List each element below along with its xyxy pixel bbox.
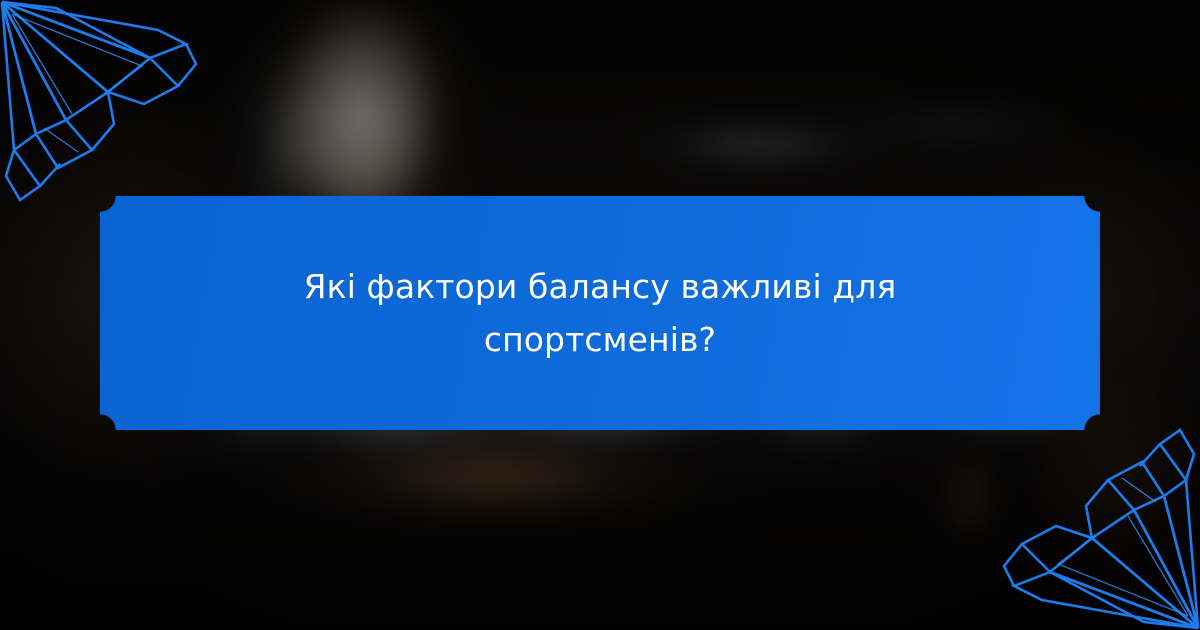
question-card: Які фактори балансу важливі для спортсме… [100, 196, 1100, 430]
question-title: Які фактори балансу важливі для спортсме… [280, 260, 920, 367]
share-card-canvas: Які фактори балансу важливі для спортсме… [0, 0, 1200, 630]
